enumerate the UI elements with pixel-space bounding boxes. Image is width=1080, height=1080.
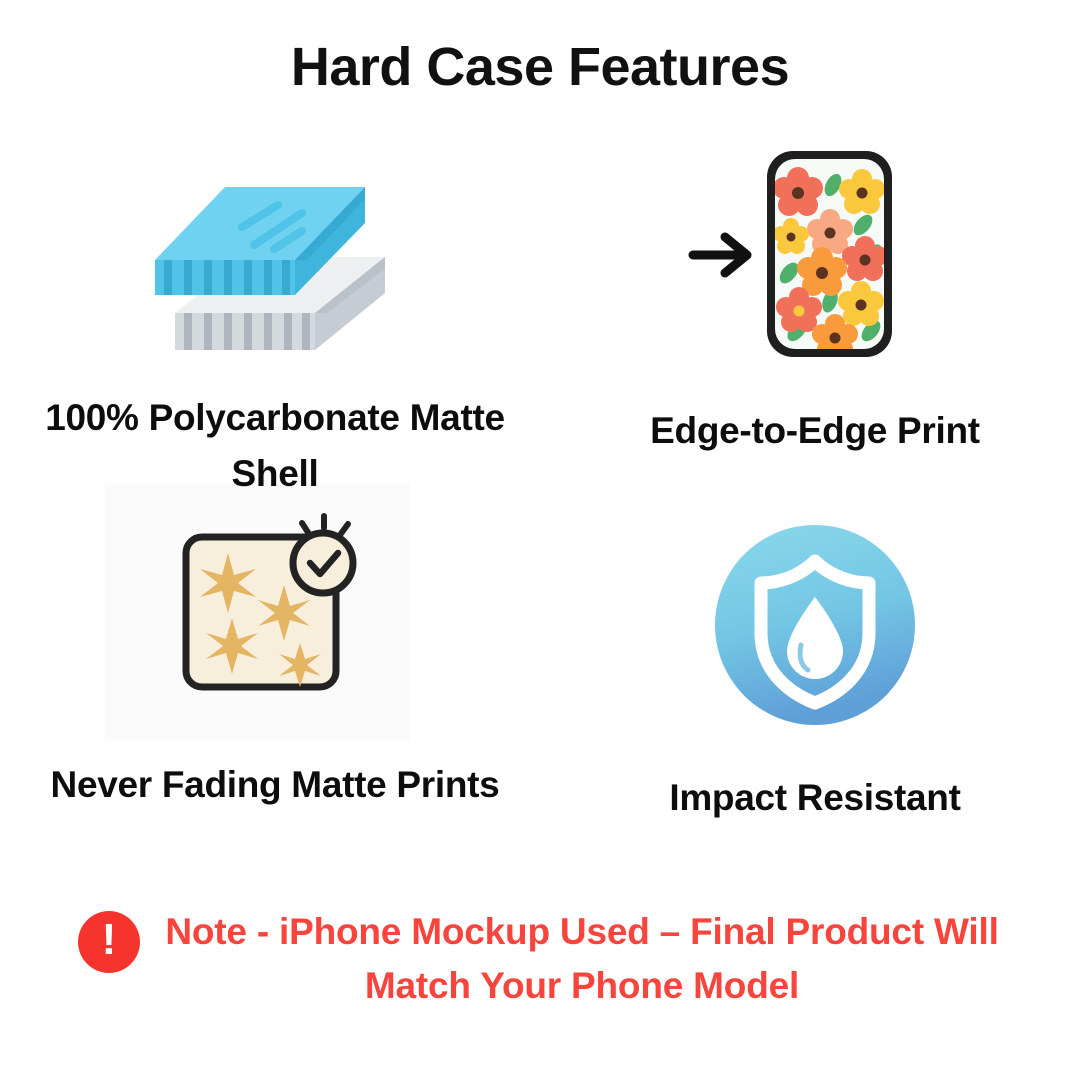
page-title: Hard Case Features — [0, 36, 1080, 98]
layers-stack-icon — [150, 165, 400, 365]
exclamation-circle-icon: ! — [78, 911, 140, 973]
feature-never-fading-prints: Never Fading Matte Prints — [25, 470, 525, 813]
feature-impact-resistant: Impact Resistant — [565, 500, 1065, 826]
feature-icon-wrap — [25, 160, 525, 370]
sparkle-check-icon — [160, 493, 390, 723]
feature-label: Edge-to-Edge Print — [565, 403, 1065, 459]
feature-label: Impact Resistant — [565, 770, 1065, 826]
feature-icon-wrap — [565, 130, 1065, 375]
floral-phone-case-icon — [685, 133, 945, 373]
note-text: Note - iPhone Mockup Used – Final Produc… — [162, 905, 1002, 1012]
note-banner: ! Note - iPhone Mockup Used – Final Prod… — [0, 905, 1080, 1012]
feature-polycarbonate-shell: 100% Polycarbonate Matte Shell — [25, 160, 525, 501]
feature-icon-wrap — [25, 470, 525, 745]
feature-label: Never Fading Matte Prints — [25, 757, 525, 813]
shield-droplet-icon — [711, 521, 919, 729]
feature-infographic: Hard Case Features — [0, 0, 1080, 1080]
feature-icon-wrap — [565, 500, 1065, 750]
exclamation-glyph: ! — [102, 918, 117, 962]
arrow-right-icon — [693, 237, 747, 273]
feature-edge-to-edge-print: Edge-to-Edge Print — [565, 130, 1065, 459]
